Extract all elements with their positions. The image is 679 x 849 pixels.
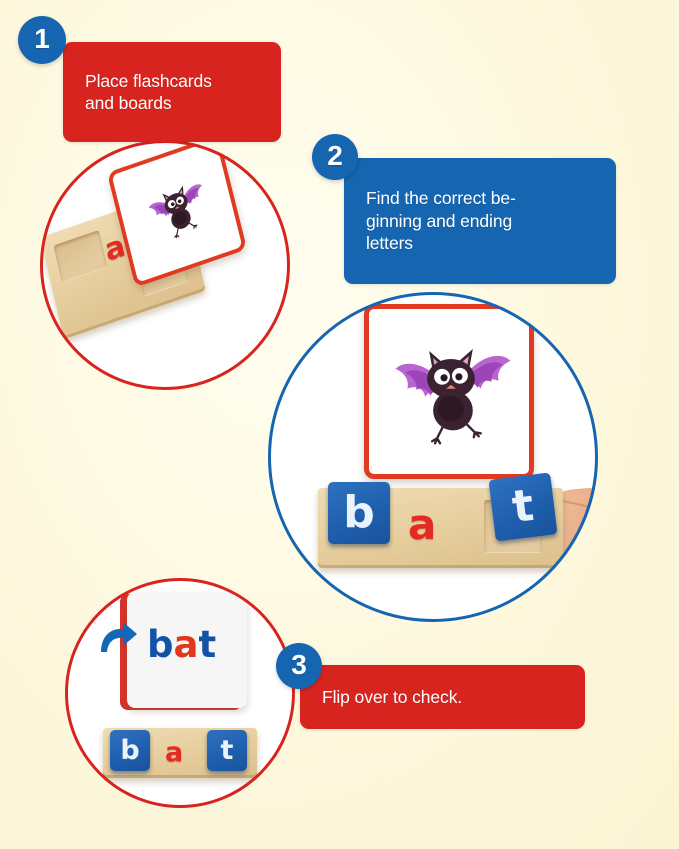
step-1-photo-circle: a — [40, 140, 290, 390]
step-2-callout: Find the correct be- ginning and ending … — [344, 158, 616, 284]
step-2-callout-text: Find the correct be- ginning and ending … — [344, 187, 530, 254]
letter-tile-t-2[interactable]: t — [488, 472, 557, 541]
step-3-number: 3 — [291, 651, 307, 679]
tile-letter-b: b — [343, 491, 375, 535]
step-1-callout: Place flashcards and boards — [63, 42, 281, 142]
step-1-callout-text: Place flashcards and boards — [63, 70, 226, 115]
bat-flashcard-2 — [364, 304, 534, 479]
card-letter-a: a — [174, 623, 199, 666]
tile-letter-t-3: t — [221, 737, 234, 764]
step-2-number: 2 — [327, 142, 343, 170]
step-3-callout-text: Flip over to check. — [300, 686, 476, 708]
bat-illustration-2 — [364, 308, 534, 483]
letter-tile-b-3[interactable]: b — [110, 730, 150, 771]
board-letter-a-2: a — [408, 504, 436, 546]
board-slot-left — [53, 230, 107, 283]
step-3-badge: 3 — [276, 643, 322, 689]
board-letter-a-3: a — [165, 739, 183, 766]
tile-letter-b-3: b — [120, 737, 139, 764]
instruction-poster: a — [0, 0, 679, 849]
step-2-badge: 2 — [312, 134, 358, 180]
step-1-number: 1 — [34, 25, 50, 53]
flipped-word-card: bat — [127, 592, 247, 708]
step-3-callout: Flip over to check. — [300, 665, 585, 729]
letter-tile-b-2[interactable]: b — [328, 482, 390, 544]
card-letter-b: b — [147, 623, 174, 666]
tile-letter-t: t — [510, 484, 536, 530]
card-letter-t: t — [198, 623, 216, 666]
step-1-badge: 1 — [18, 16, 66, 64]
flip-arrow-icon — [97, 620, 139, 658]
letter-tile-t-3[interactable]: t — [207, 730, 247, 771]
step-3-photo-circle: bat b a t — [65, 578, 295, 808]
card-word-bat: bat — [147, 626, 216, 663]
step-2-photo-circle: b a t — [268, 292, 598, 622]
